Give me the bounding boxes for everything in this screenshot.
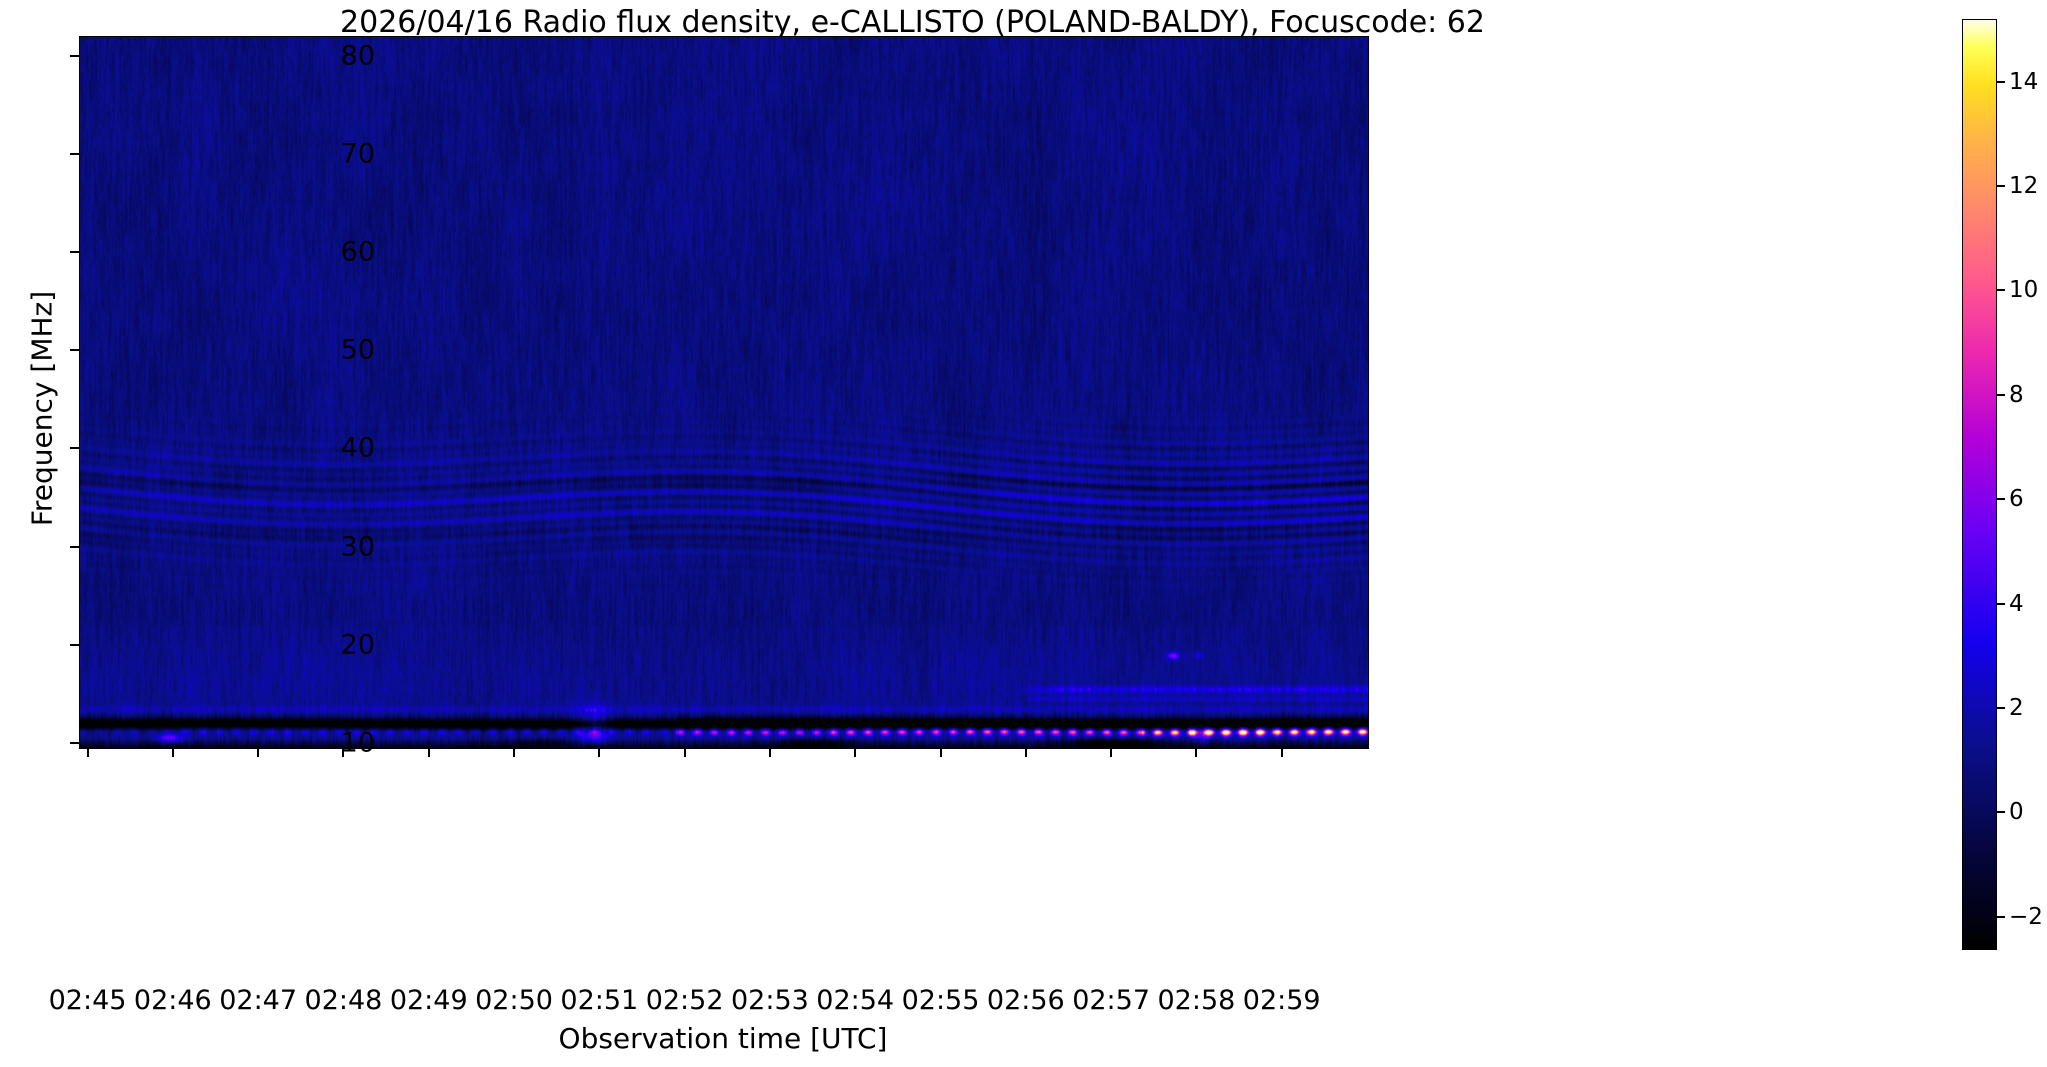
x-tick-mark (342, 748, 344, 757)
x-axis-label: Observation time [UTC] (79, 1022, 1367, 1055)
x-tick-mark (684, 748, 686, 757)
colorbar-tick-label: −2 (2009, 904, 2043, 930)
y-tick-label: 80 (255, 40, 375, 71)
colorbar-tick-mark (1996, 603, 2005, 605)
page-title: 2026/04/16 Radio flux density, e-CALLIST… (0, 5, 1825, 40)
colorbar (1962, 19, 1997, 950)
y-tick-mark (70, 153, 79, 155)
y-axis-label: Frequency [MHz] (26, 199, 59, 619)
y-tick-label: 20 (255, 629, 375, 660)
x-tick-label: 02:47 (219, 985, 297, 1016)
x-tick-label: 02:54 (816, 985, 894, 1016)
colorbar-tick-mark (1996, 707, 2005, 709)
x-tick-mark (854, 748, 856, 757)
x-tick-mark (1110, 748, 1112, 757)
colorbar-tick-label: 14 (2009, 69, 2038, 95)
colorbar-tick-label: 8 (2009, 382, 2024, 408)
colorbar-tick-label: 12 (2009, 173, 2038, 199)
y-tick-label: 10 (255, 728, 375, 759)
x-tick-label: 02:55 (902, 985, 980, 1016)
y-tick-mark (70, 55, 79, 57)
x-tick-mark (1025, 748, 1027, 757)
x-tick-mark (1281, 748, 1283, 757)
y-tick-mark (70, 644, 79, 646)
colorbar-tick-label: 2 (2009, 695, 2024, 721)
x-tick-label: 02:51 (560, 985, 638, 1016)
x-tick-mark (769, 748, 771, 757)
x-tick-mark (257, 748, 259, 757)
x-tick-label: 02:59 (1243, 985, 1321, 1016)
y-tick-mark (70, 349, 79, 351)
x-tick-label: 02:57 (1072, 985, 1150, 1016)
x-tick-mark (940, 748, 942, 757)
x-tick-mark (598, 748, 600, 757)
colorbar-tick-mark (1996, 498, 2005, 500)
x-tick-label: 02:56 (987, 985, 1065, 1016)
colorbar-tick-mark (1996, 916, 2005, 918)
colorbar-tick-mark (1996, 81, 2005, 83)
y-tick-label: 50 (255, 335, 375, 366)
x-tick-mark (172, 748, 174, 757)
x-tick-label: 02:49 (390, 985, 468, 1016)
colorbar-tick-label: 6 (2009, 486, 2024, 512)
y-tick-label: 30 (255, 531, 375, 562)
y-tick-label: 40 (255, 433, 375, 464)
x-tick-mark (513, 748, 515, 757)
colorbar-tick-label: 0 (2009, 799, 2024, 825)
colorbar-tick-mark (1996, 394, 2005, 396)
y-tick-label: 70 (255, 138, 375, 169)
colorbar-tick-label: 10 (2009, 277, 2038, 303)
colorbar-tick-mark (1996, 185, 2005, 187)
y-tick-mark (70, 251, 79, 253)
x-tick-label: 02:45 (49, 985, 127, 1016)
x-tick-mark (1195, 748, 1197, 757)
x-tick-label: 02:50 (475, 985, 553, 1016)
y-tick-mark (70, 546, 79, 548)
y-tick-mark (70, 742, 79, 744)
x-tick-label: 02:48 (305, 985, 383, 1016)
x-tick-label: 02:58 (1157, 985, 1235, 1016)
x-tick-label: 02:46 (134, 985, 212, 1016)
colorbar-tick-mark (1996, 289, 2005, 291)
colorbar-gradient (1963, 20, 1996, 949)
x-tick-label: 02:52 (646, 985, 724, 1016)
spectrogram-figure: 2026/04/16 Radio flux density, e-CALLIST… (0, 0, 2047, 1067)
x-tick-mark (428, 748, 430, 757)
colorbar-tick-mark (1996, 811, 2005, 813)
y-tick-mark (70, 447, 79, 449)
colorbar-tick-label: 4 (2009, 591, 2024, 617)
x-tick-mark (87, 748, 89, 757)
x-tick-label: 02:53 (731, 985, 809, 1016)
y-tick-label: 60 (255, 237, 375, 268)
